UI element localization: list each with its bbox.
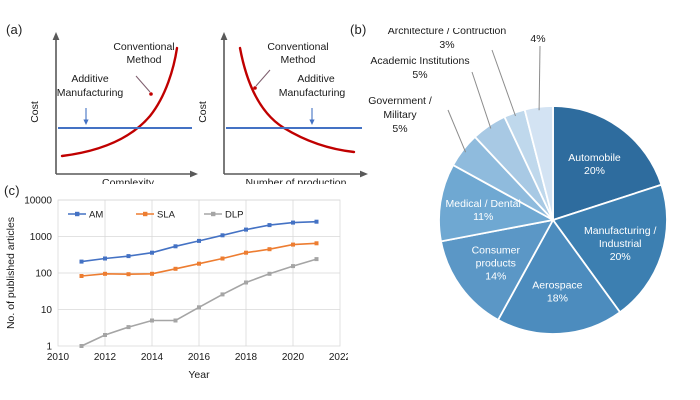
series-marker[interactable]: [80, 274, 84, 278]
y-axis-label: Cost: [29, 101, 41, 123]
line-chart-published-articles: 110100100010000 201020122014201620182020…: [0, 186, 348, 400]
x-tick-label: 2022: [329, 352, 348, 363]
y-tick-label: 10000: [24, 196, 52, 207]
series-marker[interactable]: [221, 233, 225, 237]
y-tick-label: 1000: [30, 232, 53, 243]
legend-label[interactable]: AM: [89, 209, 103, 220]
pie-slice-value: 14%: [485, 271, 506, 283]
conventional-leader-line: [256, 70, 270, 86]
series-marker[interactable]: [221, 257, 225, 261]
series-marker[interactable]: [315, 241, 319, 245]
x-tick-label: 2018: [235, 352, 258, 363]
pie-leader-line: [472, 72, 491, 129]
series-marker[interactable]: [315, 220, 319, 224]
conventional-label-line1: Conventional: [113, 41, 174, 53]
legend-marker: [211, 212, 215, 216]
series-marker[interactable]: [127, 272, 131, 276]
series-marker[interactable]: [244, 228, 248, 232]
series-marker[interactable]: [150, 272, 154, 276]
pie-slice-label: Automobile: [568, 152, 621, 164]
series-marker[interactable]: [127, 325, 131, 329]
legend-marker: [75, 212, 79, 216]
y-axis-arrow: [53, 32, 60, 40]
legend-label[interactable]: DLP: [225, 209, 243, 220]
additive-label-line2: Manufacturing: [279, 87, 346, 99]
pie-slice-value: 11%: [473, 211, 493, 223]
series-marker[interactable]: [174, 319, 178, 323]
y-tick-label: 10: [41, 305, 53, 316]
additive-label-line1: Additive: [71, 73, 109, 85]
pie-slice-value: 20%: [584, 165, 605, 177]
pie-outside-value: 4%: [530, 33, 545, 45]
pie-slice-label: Industrial: [599, 238, 642, 250]
legend-label[interactable]: SLA: [157, 209, 176, 220]
x-tick-labels: 2010201220142016201820202022: [47, 352, 348, 363]
pie-outside-label: Others: [522, 28, 554, 31]
series-marker[interactable]: [127, 254, 131, 258]
chart-legend: AMSLADLP: [68, 209, 243, 220]
series-marker[interactable]: [268, 223, 272, 227]
pie-outside-label: Government /: [368, 95, 432, 107]
series-marker[interactable]: [291, 243, 295, 247]
series-marker[interactable]: [291, 221, 295, 225]
pie-slice-value: 20%: [610, 251, 631, 263]
series-marker[interactable]: [221, 292, 225, 296]
x-tick-label: 2016: [188, 352, 211, 363]
series-marker[interactable]: [197, 239, 201, 243]
pie-slice-label: Consumer: [472, 245, 521, 257]
series-marker[interactable]: [244, 281, 248, 285]
additive-label-line1: Additive: [297, 73, 335, 85]
series-marker[interactable]: [315, 257, 319, 261]
conventional-label-line2: Method: [126, 54, 161, 66]
pie-outside-value: 3%: [439, 39, 454, 51]
series-marker[interactable]: [103, 272, 107, 276]
y-tick-labels: 110100100010000: [24, 196, 52, 353]
schematic-cost-vs-number-of-production: Conventional Method Additive Manufacturi…: [192, 24, 377, 184]
pie-outside-label: Academic Institutions: [370, 55, 469, 67]
x-tick-label: 2012: [94, 352, 117, 363]
x-tick-label: 2014: [141, 352, 164, 363]
series-marker[interactable]: [197, 305, 201, 309]
pie-outside-label: Architecture / Contruction: [388, 28, 507, 37]
pie-chart-applications: Automobile20%Manufacturing /Industrial20…: [352, 28, 700, 368]
pie-leader-line: [448, 110, 466, 152]
panel-label-a: (a): [6, 22, 23, 37]
series-marker[interactable]: [103, 257, 107, 261]
pie-slice-label: Aerospace: [532, 280, 582, 292]
y-axis-title: No. of published articles: [5, 217, 17, 329]
pie-slice-label: Medical / Dental: [446, 198, 521, 210]
x-axis-label: Complexity: [102, 177, 155, 184]
series-marker[interactable]: [103, 333, 107, 337]
pie-outside-value: 5%: [392, 123, 407, 135]
series-marker[interactable]: [291, 264, 295, 268]
y-tick-label: 1: [46, 342, 52, 353]
pie-slice-value: 18%: [547, 293, 568, 305]
series-marker[interactable]: [80, 260, 84, 264]
y-axis-arrow: [221, 32, 228, 40]
pie-outside-label-line2: Military: [383, 109, 417, 121]
conventional-leader-dot: [253, 86, 257, 90]
series-marker[interactable]: [150, 251, 154, 255]
series-marker[interactable]: [174, 267, 178, 271]
y-tick-label: 100: [35, 269, 52, 280]
pie-slice-label: products: [476, 258, 516, 270]
series-marker[interactable]: [174, 244, 178, 248]
x-axis-title: Year: [188, 369, 210, 381]
series-marker[interactable]: [244, 251, 248, 255]
conventional-label-line2: Method: [280, 54, 315, 66]
series-marker[interactable]: [80, 344, 84, 348]
additive-arrow-head: [83, 120, 88, 126]
pie-leader-line: [539, 46, 540, 110]
x-tick-label: 2020: [282, 352, 305, 363]
legend-marker: [143, 212, 147, 216]
series-marker[interactable]: [268, 247, 272, 251]
conventional-leader-dot: [149, 92, 153, 96]
conventional-leader-line: [136, 76, 150, 92]
pie-leader-line: [492, 50, 516, 116]
series-marker[interactable]: [268, 272, 272, 276]
x-axis-label: Number of production: [246, 177, 347, 184]
pie-slice-label: Manufacturing /: [584, 225, 656, 237]
y-axis-label: Cost: [197, 101, 209, 123]
x-tick-label: 2010: [47, 352, 70, 363]
additive-label-line2: Manufacturing: [57, 87, 124, 99]
series-marker[interactable]: [150, 319, 154, 323]
additive-arrow-head: [309, 120, 314, 126]
pie-outside-value: 5%: [412, 69, 427, 81]
schematic-cost-vs-complexity: Conventional Method Additive Manufacturi…: [24, 24, 204, 184]
figure-canvas: (a) (b) (c) Conventional Method Additive: [0, 0, 700, 400]
conventional-label-line1: Conventional: [267, 41, 328, 53]
series-marker[interactable]: [197, 262, 201, 266]
